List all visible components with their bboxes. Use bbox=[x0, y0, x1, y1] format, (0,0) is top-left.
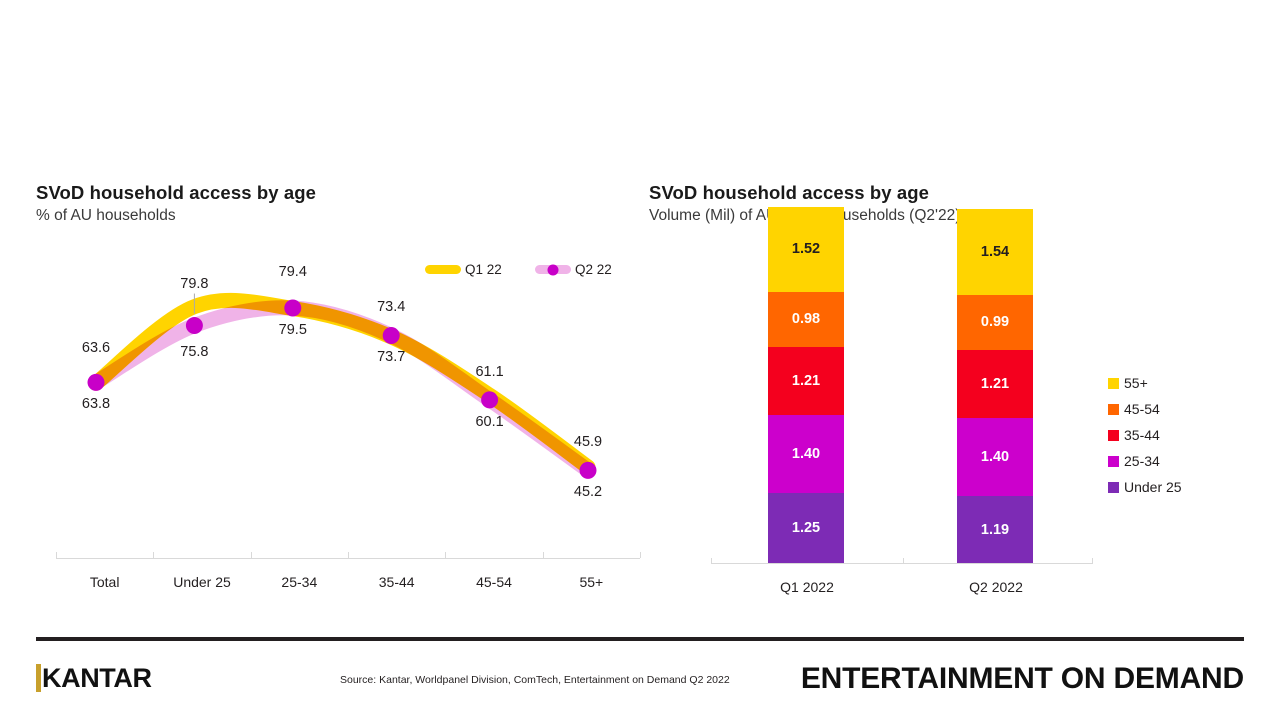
stacked-bar-chart: 1.520.981.211.401.251.540.991.211.401.19… bbox=[660, 240, 1280, 600]
bar-segment[interactable]: 1.40 bbox=[768, 415, 844, 493]
bar-legend-label: 35-44 bbox=[1124, 427, 1160, 443]
bar-axis-tick-right bbox=[1092, 558, 1093, 564]
legend-swatch-icon bbox=[1108, 430, 1119, 441]
line-x-tick bbox=[640, 552, 641, 558]
right-chart-title: SVoD household access by age bbox=[649, 182, 929, 204]
line-x-category-4: 45-54 bbox=[476, 574, 512, 590]
line-label-q2-2: 79.5 bbox=[279, 322, 307, 338]
bar-segment[interactable]: 1.19 bbox=[957, 496, 1033, 563]
line-x-tick bbox=[348, 552, 349, 558]
line-x-tick bbox=[445, 552, 446, 558]
bar-axis-tick-mid bbox=[903, 558, 904, 564]
bar-segment[interactable]: 1.40 bbox=[957, 418, 1033, 496]
bar-legend-label: 25-34 bbox=[1124, 453, 1160, 469]
bar-column-1: 1.540.991.211.401.19 bbox=[957, 209, 1033, 563]
bar-x-axis bbox=[711, 563, 1092, 564]
line-label-q1-5: 45.9 bbox=[574, 434, 602, 450]
line-x-category-2: 25-34 bbox=[281, 574, 317, 590]
line-x-tick bbox=[56, 552, 57, 558]
line-x-axis bbox=[56, 558, 640, 559]
bar-segment[interactable]: 0.98 bbox=[768, 292, 844, 347]
kantar-accent-bar-icon bbox=[36, 664, 41, 692]
bar-segment[interactable]: 1.21 bbox=[957, 350, 1033, 418]
line-x-tick bbox=[251, 552, 252, 558]
line-chart: Q1 22 Q2 22 63.679.879.473.461.145.96 bbox=[0, 240, 660, 600]
bar-segment[interactable]: 1.25 bbox=[768, 493, 844, 563]
line-label-q2-3: 73.7 bbox=[377, 349, 405, 365]
bar-legend-label: 45-54 bbox=[1124, 401, 1160, 417]
line-label-q1-3: 73.4 bbox=[377, 299, 405, 315]
line-label-q2-5: 45.2 bbox=[574, 484, 602, 500]
left-chart-subtitle: % of AU households bbox=[36, 207, 176, 225]
bar-legend-item-4[interactable]: Under 25 bbox=[1108, 474, 1182, 500]
line-x-category-5: 55+ bbox=[579, 574, 603, 590]
footer-divider bbox=[36, 637, 1244, 641]
bar-segment[interactable]: 1.54 bbox=[957, 209, 1033, 295]
line-x-tick bbox=[153, 552, 154, 558]
legend-swatch-icon bbox=[1108, 378, 1119, 389]
line-label-q1-1: 79.8 bbox=[180, 276, 208, 292]
bar-chart-legend: 55+45-5435-4425-34Under 25 bbox=[1108, 370, 1182, 500]
bar-segment[interactable]: 0.99 bbox=[957, 295, 1033, 350]
bar-axis-tick-left bbox=[711, 558, 712, 564]
line-label-q2-0: 63.8 bbox=[82, 396, 110, 412]
bar-column-0: 1.520.981.211.401.25 bbox=[768, 207, 844, 563]
line-label-q2-4: 60.1 bbox=[475, 414, 503, 430]
legend-swatch-icon bbox=[1108, 482, 1119, 493]
bar-x-category-0: Q1 2022 bbox=[780, 579, 834, 595]
slide-canvas: SVoD household access by age % of AU hou… bbox=[0, 0, 1280, 720]
line-data-point bbox=[481, 391, 498, 408]
left-chart-title: SVoD household access by age bbox=[36, 182, 316, 204]
line-data-point bbox=[383, 327, 400, 344]
legend-swatch-icon bbox=[1108, 404, 1119, 415]
brand-wordmark: ENTERTAINMENT ON DEMAND bbox=[801, 662, 1244, 696]
line-x-tick bbox=[543, 552, 544, 558]
line-data-point bbox=[88, 374, 105, 391]
bar-segment[interactable]: 1.21 bbox=[768, 347, 844, 415]
line-x-category-1: Under 25 bbox=[173, 574, 231, 590]
bar-legend-label: Under 25 bbox=[1124, 479, 1182, 495]
line-data-point bbox=[284, 300, 301, 317]
line-x-category-0: Total bbox=[90, 574, 120, 590]
bar-legend-item-1[interactable]: 45-54 bbox=[1108, 396, 1182, 422]
source-note: Source: Kantar, Worldpanel Division, Com… bbox=[340, 674, 730, 686]
bar-x-category-1: Q2 2022 bbox=[969, 579, 1023, 595]
legend-swatch-icon bbox=[1108, 456, 1119, 467]
bar-legend-item-2[interactable]: 35-44 bbox=[1108, 422, 1182, 448]
bar-legend-item-3[interactable]: 25-34 bbox=[1108, 448, 1182, 474]
bar-segment[interactable]: 1.52 bbox=[768, 207, 844, 292]
line-data-point bbox=[186, 317, 203, 334]
bar-legend-item-0[interactable]: 55+ bbox=[1108, 370, 1182, 396]
line-x-category-3: 35-44 bbox=[379, 574, 415, 590]
kantar-logo-text: KANTAR bbox=[42, 664, 152, 692]
kantar-logo: KANTAR bbox=[36, 664, 152, 692]
line-label-q1-4: 61.1 bbox=[475, 364, 503, 380]
bar-legend-label: 55+ bbox=[1124, 375, 1148, 391]
line-label-q1-2: 79.4 bbox=[279, 264, 307, 280]
line-label-q1-0: 63.6 bbox=[82, 340, 110, 356]
line-label-q2-1: 75.8 bbox=[180, 344, 208, 360]
line-data-point bbox=[580, 462, 597, 479]
